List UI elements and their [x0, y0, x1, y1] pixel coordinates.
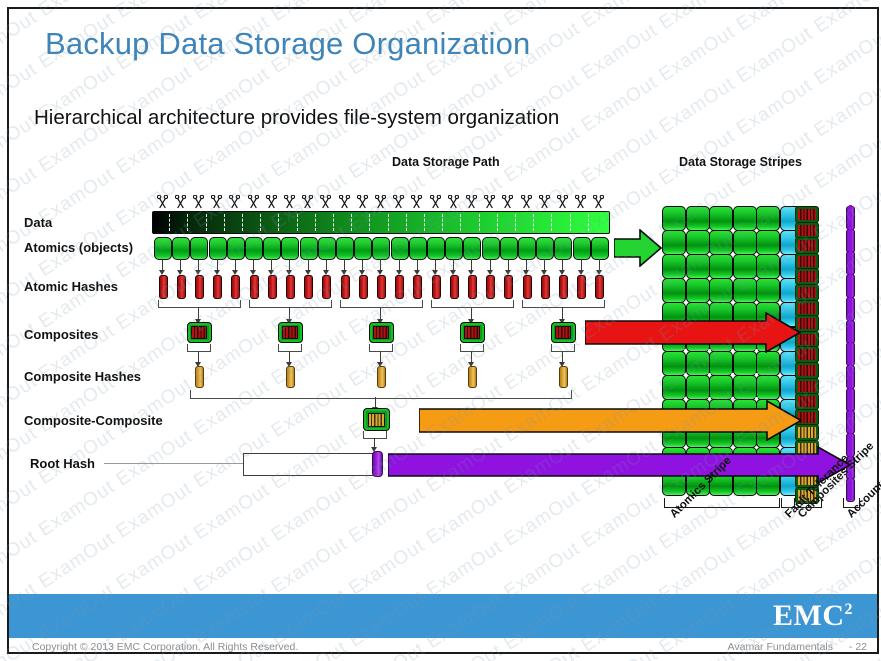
- composites-stripe-cell: [795, 284, 819, 301]
- stripe-cell-junction-dot: [684, 229, 687, 232]
- atomic-to-hash-arrow: [399, 259, 400, 270]
- data-segment-divider: [497, 214, 498, 231]
- atomic-hash: [504, 275, 513, 299]
- atomic-hash: [468, 275, 477, 299]
- atomic-hash: [159, 275, 168, 299]
- atomic-to-hash-arrow: [453, 259, 454, 270]
- atomics-stripe-cell: [756, 206, 780, 231]
- atomic-object: [591, 237, 609, 260]
- stripe-cell-junction-dot: [708, 373, 711, 376]
- scissors-icon: [502, 195, 513, 209]
- scissors-icon: [466, 195, 477, 209]
- scissors-icon: [375, 195, 386, 209]
- atomics-stripe-cell: [662, 375, 686, 400]
- composite-to-hash-arrow: [471, 351, 472, 362]
- atomic-hash-group-bracket: [249, 300, 332, 308]
- atomics-stripe-cell: [686, 278, 710, 303]
- atomic-hash: [432, 275, 441, 299]
- purple-arrow-icon: [388, 446, 851, 484]
- atomic-hash: [377, 275, 386, 299]
- group-to-composite-arrow: [562, 307, 563, 319]
- composites-stripe-bars: [798, 381, 816, 392]
- data-segment-divider: [315, 214, 316, 231]
- atomic-object: [372, 237, 390, 260]
- atomic-hash: [286, 275, 295, 299]
- atomics-stripe-cell: [686, 254, 710, 279]
- atomic-hash: [250, 275, 259, 299]
- composites-stripe-bars: [798, 240, 816, 251]
- atomics-stripe-cell: [662, 206, 686, 231]
- atomic-object: [281, 237, 299, 260]
- atomic-hash-group-bracket: [340, 300, 423, 308]
- atomic-to-hash-arrow: [253, 259, 254, 270]
- atomic-to-hash-arrow: [271, 259, 272, 270]
- atomics-stripe-cell: [733, 375, 757, 400]
- row-label-data: Data: [24, 215, 52, 230]
- atomics-stripe-cell: [709, 206, 733, 231]
- composite-composite-down-arrow: [374, 438, 375, 447]
- atomic-to-hash-arrow: [435, 259, 436, 270]
- stripe-cell-junction-dot: [755, 253, 758, 256]
- scissors-icon: [266, 195, 277, 209]
- data-segment-divider: [242, 214, 243, 231]
- composites-stripe-bars: [798, 365, 816, 376]
- stripe-cell-junction-dot: [708, 229, 711, 232]
- atomic-hash: [559, 275, 568, 299]
- data-segment-divider: [533, 214, 534, 231]
- group-to-composite-arrow: [471, 307, 472, 319]
- composites-stripe-bars: [798, 256, 816, 267]
- atomics-stripe-cell: [709, 351, 733, 376]
- row-label-atomic-hashes: Atomic Hashes: [24, 279, 118, 294]
- root-hash-box: [243, 453, 377, 476]
- atomic-object: [463, 237, 481, 260]
- row-label-composite-composite: Composite-Composite: [24, 413, 163, 428]
- atomic-object: [227, 237, 245, 260]
- green-flow-arrow-icon: [614, 229, 662, 267]
- emc-logo-superscript: 2: [845, 601, 854, 618]
- atomic-to-hash-arrow: [380, 259, 381, 270]
- data-segment-divider: [570, 214, 571, 231]
- data-segment-divider: [206, 214, 207, 231]
- atomic-to-hash-arrow: [162, 259, 163, 270]
- atomic-hash: [304, 275, 313, 299]
- slide-border-right: [877, 7, 879, 654]
- stripe-cell-junction-dot: [755, 301, 758, 304]
- composite-bars: [373, 326, 389, 339]
- composites-stripe-cell: [795, 253, 819, 270]
- scissors-icon: [302, 195, 313, 209]
- data-segment-divider: [351, 214, 352, 231]
- atomic-object: [300, 237, 318, 260]
- atomic-object: [554, 237, 572, 260]
- composites-stripe-bars: [798, 209, 816, 220]
- to-composite-composite-arrow: [375, 397, 376, 407]
- atomics-stripe-cell: [733, 351, 757, 376]
- atomic-hash: [359, 275, 368, 299]
- stripe-cell-junction-dot: [755, 229, 758, 232]
- composite-hash: [468, 366, 477, 388]
- composite-composite-block: [363, 408, 390, 431]
- composite-block: [369, 322, 394, 343]
- scissors-icon: [484, 195, 495, 209]
- data-segment-divider: [278, 214, 279, 231]
- data-segment-divider: [260, 214, 261, 231]
- composites-stripe-cell: [795, 222, 819, 239]
- atomic-hash: [231, 275, 240, 299]
- atomic-object: [209, 237, 227, 260]
- atomic-to-hash-arrow: [508, 259, 509, 270]
- scissors-icon: [248, 195, 259, 209]
- stripe-cell-junction-dot: [708, 253, 711, 256]
- page-title: Backup Data Storage Organization: [45, 26, 530, 62]
- atomic-object: [409, 237, 427, 260]
- data-segment-divider: [406, 214, 407, 231]
- atomic-hash-group-bracket: [431, 300, 514, 308]
- atomic-hash: [195, 275, 204, 299]
- composites-stripe-bars: [798, 225, 816, 236]
- composite-to-hash-arrow: [562, 351, 563, 362]
- footer-bar: [9, 594, 877, 638]
- stripe-cell-junction-dot: [708, 277, 711, 280]
- data-segment-divider: [333, 214, 334, 231]
- atomic-to-hash-arrow: [362, 259, 363, 270]
- atomic-hash: [595, 275, 604, 299]
- scissors-icon: [575, 195, 586, 209]
- atomic-object: [482, 237, 500, 260]
- scissors-icon: [193, 195, 204, 209]
- group-to-composite-arrow: [380, 307, 381, 319]
- atomics-stripe-cell: [756, 254, 780, 279]
- row-label-composite-hashes: Composite Hashes: [24, 369, 141, 384]
- atomic-hash: [341, 275, 350, 299]
- data-bar: [152, 211, 610, 234]
- watermark-text: ExamOut ExamOut ExamOut ExamOut ExamOut …: [0, 0, 881, 18]
- deck-name: Avamar Fundamentals: [728, 641, 833, 653]
- atomic-to-hash-arrow: [581, 259, 582, 270]
- data-segment-divider: [388, 214, 389, 231]
- atomic-hash: [541, 275, 550, 299]
- red-arrow-icon: [585, 312, 801, 353]
- scissors-icon: [229, 195, 240, 209]
- atomic-object: [154, 237, 172, 260]
- row-label-root-hash: Root Hash: [30, 456, 95, 471]
- atomics-stripe-cell: [662, 351, 686, 376]
- composites-stripe-cell: [795, 268, 819, 285]
- emc-logo: EMC2: [773, 599, 853, 633]
- composite-bracket: [187, 344, 211, 352]
- atomics-stripe-cell: [733, 278, 757, 303]
- atomics-stripe-cell: [756, 230, 780, 255]
- atomic-hash: [486, 275, 495, 299]
- atomic-object: [573, 237, 591, 260]
- composite-bracket: [278, 344, 302, 352]
- emc-logo-text: EMC: [773, 599, 845, 632]
- stripe-cell-junction-dot: [731, 229, 734, 232]
- atomic-object: [536, 237, 554, 260]
- atomic-to-hash-arrow: [326, 259, 327, 270]
- atomics-stripe-cell: [709, 230, 733, 255]
- atomic-to-hash-arrow: [308, 259, 309, 270]
- atomics-stripe-cell: [733, 206, 757, 231]
- atomic-to-hash-arrow: [180, 259, 181, 270]
- stripe-cell-junction-dot: [684, 277, 687, 280]
- orange-arrow-icon: [419, 400, 802, 441]
- data-segment-divider: [442, 214, 443, 231]
- atomic-to-hash-arrow: [235, 259, 236, 270]
- atomic-hash: [268, 275, 277, 299]
- composite-bars: [555, 326, 571, 339]
- scissors-icon: [157, 195, 168, 209]
- composites-stripe-cell: [795, 362, 819, 379]
- data-segment-divider: [588, 214, 589, 231]
- atomics-stripe-cell: [662, 230, 686, 255]
- atomic-object: [391, 237, 409, 260]
- scissors-icon: [411, 195, 422, 209]
- atomic-hash-group-bracket: [158, 300, 241, 308]
- atomic-to-hash-arrow: [490, 259, 491, 270]
- root-hash-leader-line: [104, 463, 244, 464]
- atomic-to-hash-arrow: [544, 259, 545, 270]
- composite-bars: [191, 326, 207, 339]
- all-composite-hashes-bracket: [190, 390, 572, 399]
- atomic-hash: [213, 275, 222, 299]
- composite-block: [460, 322, 485, 343]
- composite-block: [551, 322, 576, 343]
- atomic-object: [354, 237, 372, 260]
- atomic-hash: [413, 275, 422, 299]
- stripe-cell-junction-dot: [708, 301, 711, 304]
- data-segment-divider: [187, 214, 188, 231]
- scissors-icon: [211, 195, 222, 209]
- data-segment-divider: [424, 214, 425, 231]
- atomic-hash: [395, 275, 404, 299]
- atomic-to-hash-arrow: [289, 259, 290, 270]
- composites-stripe-cell: [795, 237, 819, 254]
- data-segment-divider: [515, 214, 516, 231]
- stripe-cell-junction-dot: [684, 301, 687, 304]
- composite-bracket: [551, 344, 575, 352]
- atomic-to-hash-arrow: [344, 259, 345, 270]
- data-segment-divider: [479, 214, 480, 231]
- atomic-hash: [523, 275, 532, 299]
- data-segment-divider: [369, 214, 370, 231]
- atomic-object: [336, 237, 354, 260]
- composite-to-hash-arrow: [289, 351, 290, 362]
- group-to-composite-arrow: [289, 307, 290, 319]
- atomics-stripe-cell: [756, 278, 780, 303]
- atomic-hash: [322, 275, 331, 299]
- group-to-composite-arrow: [198, 307, 199, 319]
- composite-bracket: [369, 344, 393, 352]
- scissors-icon: [357, 195, 368, 209]
- atomic-to-hash-arrow: [198, 259, 199, 270]
- scissors-icon: [593, 195, 604, 209]
- atomics-stripe-cell: [686, 206, 710, 231]
- stripe-cell-junction-dot: [755, 277, 758, 280]
- scissors-icon: [320, 195, 331, 209]
- page-number: - 22: [849, 641, 867, 653]
- scissors-icon: [175, 195, 186, 209]
- atomics-stripe-cell: [709, 254, 733, 279]
- atomics-stripe-cell: [662, 254, 686, 279]
- scissors-icon: [339, 195, 350, 209]
- scissors-icon: [430, 195, 441, 209]
- atomic-to-hash-arrow: [417, 259, 418, 270]
- atomics-stripe-cell: [756, 351, 780, 376]
- atomic-to-hash-arrow: [562, 259, 563, 270]
- composite-hash: [286, 366, 295, 388]
- composite-composite-bracket: [363, 431, 387, 439]
- row-label-composites: Composites: [24, 327, 98, 342]
- slide-border-left: [7, 7, 9, 654]
- atomic-object: [445, 237, 463, 260]
- atomics-stripe-cell: [709, 278, 733, 303]
- composite-hash: [195, 366, 204, 388]
- atomic-hash: [577, 275, 586, 299]
- atomic-object: [500, 237, 518, 260]
- atomic-object: [245, 237, 263, 260]
- composite-to-hash-arrow: [198, 351, 199, 362]
- atomic-object: [263, 237, 281, 260]
- atomics-stripe-cell: [662, 278, 686, 303]
- stripe-cell-junction-dot: [684, 253, 687, 256]
- composite-block: [278, 322, 303, 343]
- atomic-to-hash-arrow: [599, 259, 600, 270]
- slide-border-top: [7, 7, 879, 9]
- composites-stripe-bars: [798, 271, 816, 282]
- column-header-data-storage-stripes: Data Storage Stripes: [679, 155, 802, 169]
- atomics-stripe-cell: [733, 254, 757, 279]
- data-segment-divider: [297, 214, 298, 231]
- composite-to-hash-arrow: [380, 351, 381, 362]
- atomic-object: [318, 237, 336, 260]
- data-segment-divider: [224, 214, 225, 231]
- composite-hash: [377, 366, 386, 388]
- page-subtitle: Hierarchical architecture provides file-…: [34, 106, 559, 130]
- scissors-icon: [448, 195, 459, 209]
- row-label-atomics: Atomics (objects): [24, 240, 133, 255]
- scissors-icon: [521, 195, 532, 209]
- atomics-stripe-cell: [686, 230, 710, 255]
- atomic-to-hash-arrow: [217, 259, 218, 270]
- slide-canvas: Backup Data Storage Organization Hierarc…: [0, 0, 881, 661]
- composite-bars: [282, 326, 298, 339]
- atomic-hash: [450, 275, 459, 299]
- atomic-object: [172, 237, 190, 260]
- scissors-icon: [539, 195, 550, 209]
- composite-bracket: [460, 344, 484, 352]
- atomic-object: [190, 237, 208, 260]
- scissors-icon: [284, 195, 295, 209]
- composites-stripe-cell: [795, 206, 819, 223]
- atomics-stripe-cell: [686, 375, 710, 400]
- atomic-object: [518, 237, 536, 260]
- column-header-data-storage-path: Data Storage Path: [392, 155, 500, 169]
- composite-block: [187, 322, 212, 343]
- atomics-stripe-cell: [733, 230, 757, 255]
- atomic-to-hash-arrow: [526, 259, 527, 270]
- composite-hash: [559, 366, 568, 388]
- data-segment-divider: [169, 214, 170, 231]
- composite-bars: [464, 326, 480, 339]
- composites-stripe-bars: [798, 287, 816, 298]
- composites-stripe-cell: [795, 378, 819, 395]
- atomic-hash-group-bracket: [522, 300, 605, 308]
- data-segment-divider: [551, 214, 552, 231]
- atomics-stripe-cell: [686, 351, 710, 376]
- root-hash-block: [372, 451, 383, 477]
- composite-composite-bars: [368, 413, 385, 427]
- scissors-icon: [393, 195, 404, 209]
- atomic-object: [427, 237, 445, 260]
- scissors-icon: [557, 195, 568, 209]
- copyright-text: Copyright © 2013 EMC Corporation. All Ri…: [32, 641, 298, 653]
- atomic-hash: [177, 275, 186, 299]
- atomic-to-hash-arrow: [471, 259, 472, 270]
- atomics-stripe-cell: [756, 375, 780, 400]
- data-segment-divider: [460, 214, 461, 231]
- atomics-stripe-cell: [709, 375, 733, 400]
